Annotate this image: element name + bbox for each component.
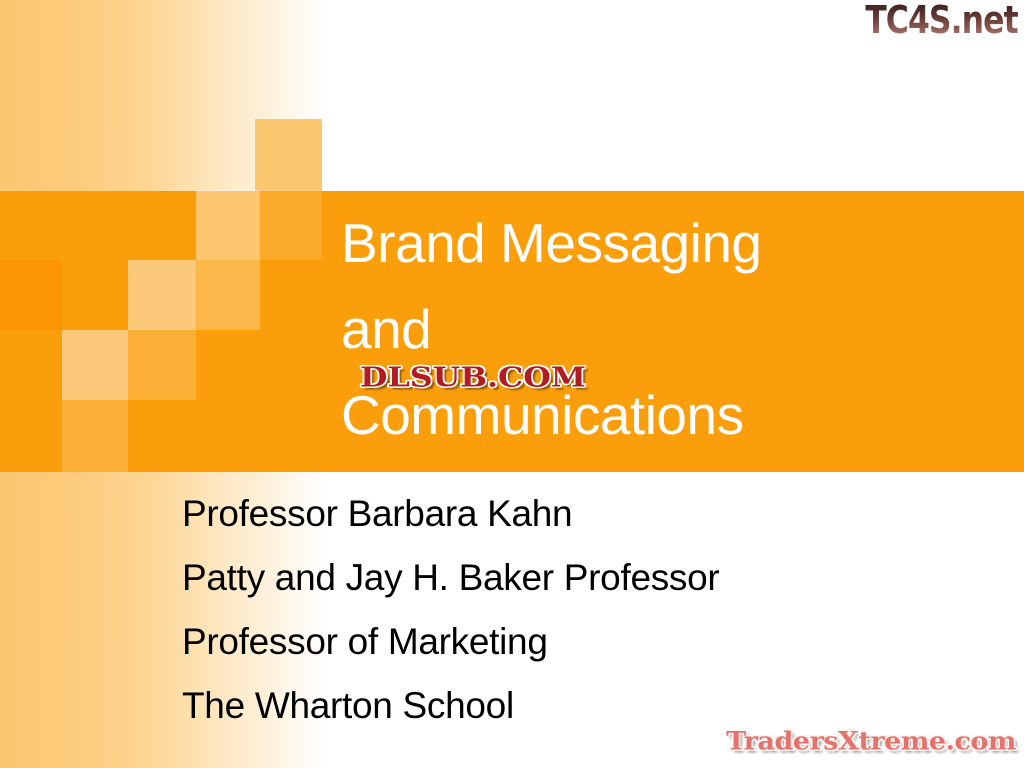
square-top-peak	[255, 119, 322, 191]
square-r4-c2	[62, 330, 128, 400]
slide-title: Brand Messaging and Communications	[341, 200, 1001, 458]
title-line-2: and	[341, 286, 1001, 372]
title-line-1: Brand Messaging	[341, 200, 1001, 286]
watermark-traders: TradersXtreme.com	[726, 727, 1016, 756]
square-r5-c2	[62, 400, 128, 472]
square-r3-c4	[196, 260, 260, 330]
square-r2-c4	[196, 190, 260, 260]
watermark-tc4s: TC4S.net	[866, 0, 1018, 42]
square-r3-c1-dark	[0, 260, 62, 330]
square-r4-c3	[128, 330, 196, 400]
subtitle-line-3: Professor of Marketing	[182, 610, 962, 674]
watermark-dlsub: DLSUB.COM	[360, 361, 586, 393]
subtitle-line-1: Professor Barbara Kahn	[182, 482, 962, 546]
square-r2-c5	[260, 190, 322, 260]
square-r3-c3	[128, 260, 196, 330]
slide-subtitle: Professor Barbara Kahn Patty and Jay H. …	[182, 482, 962, 738]
slide-canvas: Brand Messaging and Communications Profe…	[0, 0, 1024, 768]
subtitle-line-2: Patty and Jay H. Baker Professor	[182, 546, 962, 610]
